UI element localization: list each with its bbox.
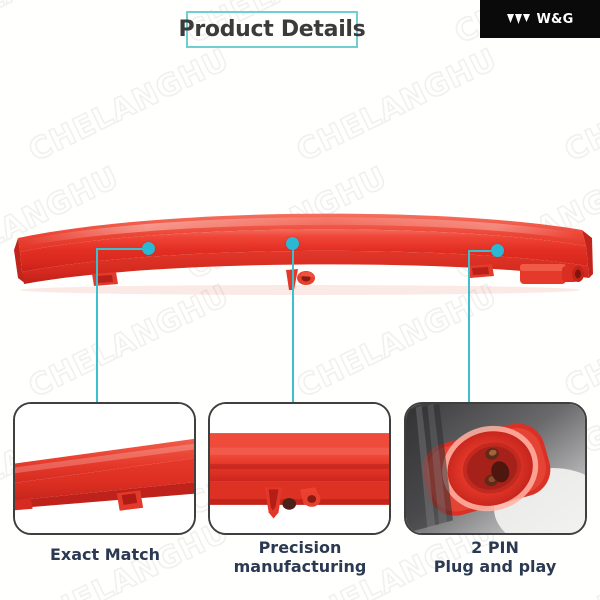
marker-right <box>491 244 504 257</box>
brand-name: W&G <box>537 12 574 27</box>
watermark-text: CHELANGHU <box>559 42 600 169</box>
page-title-box: Product Details <box>186 11 358 48</box>
product-main-image <box>0 190 600 320</box>
triple-triangle-icon <box>507 14 531 24</box>
product-details-page: CHELANGHUCHELANGHUCHELANGHUCHELANGHUCHEL… <box>0 0 600 600</box>
marker-left <box>142 242 155 255</box>
caption-line: 2 PIN <box>400 538 590 557</box>
detail-panel-exact-match <box>13 402 196 535</box>
page-title: Product Details <box>188 13 356 46</box>
brand-badge: W&G <box>480 0 600 38</box>
caption-line: Precision <box>205 538 395 557</box>
caption-precision-manufacturing: Precision manufacturing <box>205 538 395 576</box>
leader-line-right-vertical <box>468 250 470 404</box>
marker-middle <box>286 237 299 250</box>
watermark-text: CHELANGHU <box>0 0 125 51</box>
panel-image-plug-and-play <box>406 404 585 533</box>
detail-panel-precision-manufacturing <box>208 402 391 535</box>
panel-image-precision-manufacturing <box>210 404 389 533</box>
caption-exact-match: Exact Match <box>10 545 200 564</box>
caption-line: manufacturing <box>205 557 395 576</box>
leader-line-left-vertical <box>96 248 98 404</box>
leader-line-left-horizontal <box>96 248 146 250</box>
caption-line: Plug and play <box>400 557 590 576</box>
panel-image-exact-match <box>15 404 194 533</box>
caption-line: Exact Match <box>10 545 200 564</box>
caption-plug-and-play: 2 PIN Plug and play <box>400 538 590 576</box>
watermark-text: CHELANGHU <box>23 42 234 169</box>
watermark-text: CHELANGHU <box>291 42 502 169</box>
leader-line-middle-vertical <box>292 243 294 404</box>
detail-panel-plug-and-play <box>404 402 587 535</box>
